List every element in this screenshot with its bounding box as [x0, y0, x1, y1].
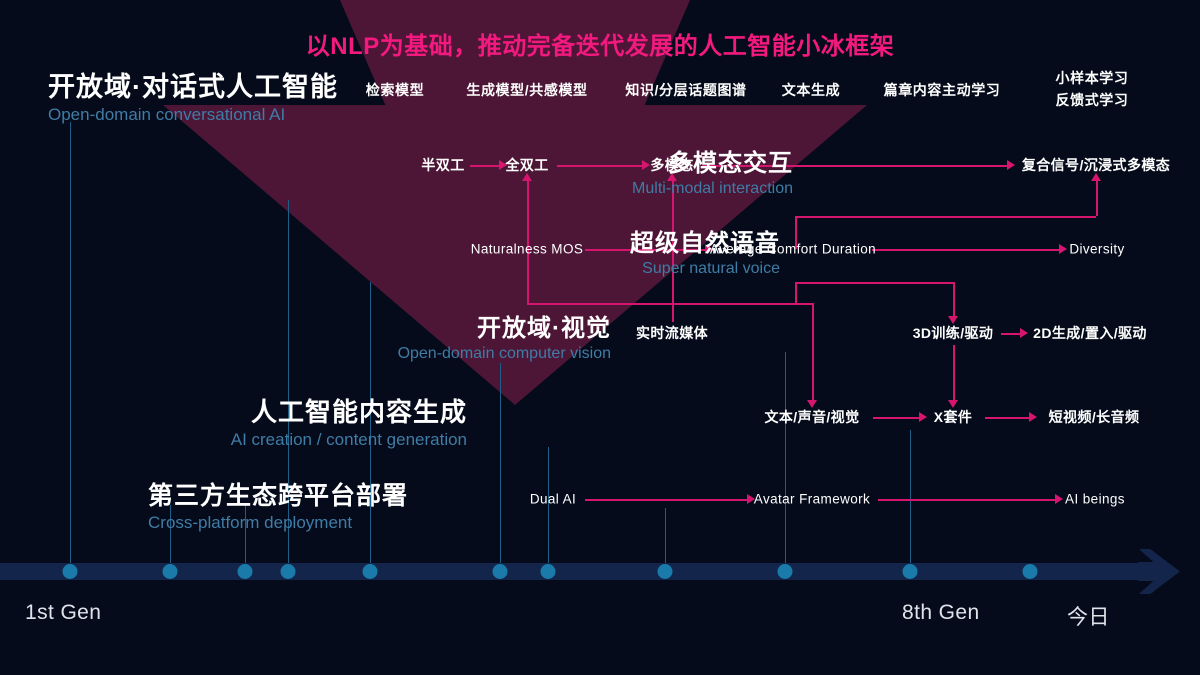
- row-heading-en-open-domain-conversational-ai: Open-domain conversational AI: [48, 104, 338, 126]
- row-heading-en-open-domain-computer-vision: Open-domain computer vision: [0, 344, 611, 365]
- flow-node-diversity: Diversity: [1069, 242, 1124, 257]
- row-heading-en-super-natural-voice: Super natural voice: [0, 259, 780, 280]
- timeline-dot-3[interactable]: [281, 564, 296, 579]
- connector-avatar-aibeings: [878, 499, 1056, 501]
- connector-dualai-avatar: [585, 499, 748, 501]
- arrow-right-icon: [1017, 326, 1031, 340]
- phase-label-3: 文本生成: [782, 80, 840, 102]
- flow-node-average-comfort-duration: Average Comfort Duration: [710, 242, 876, 257]
- row-heading-super-natural-voice: 超级自然语音Super natural voice: [0, 230, 780, 279]
- row-heading-cn-cross-platform-deployment: 第三方生态跨平台部署: [148, 482, 408, 511]
- flow-node-naturalness-mos: Naturalness MOS: [471, 242, 584, 257]
- connector-up-to-composite: [1096, 180, 1098, 216]
- row-heading-en-multi-modal-interaction: Multi-modal interaction: [0, 179, 793, 200]
- row-heading-open-domain-conversational-ai: 开放域·对话式人工智能Open-domain conversational AI: [48, 72, 338, 126]
- vline-realtime-streaming: [785, 352, 786, 566]
- timeline-arrow-icon: [1136, 548, 1184, 595]
- row-heading-cn-super-natural-voice: 超级自然语音: [0, 230, 780, 258]
- connector-xsuite-shortvideo: [985, 417, 1030, 419]
- timeline-dot-7[interactable]: [658, 564, 673, 579]
- row-heading-en-cross-platform-deployment: Cross-platform deployment: [148, 512, 408, 534]
- page-title: 以NLP为基础，推动完备迭代发展的人工智能小冰框架: [0, 26, 1200, 61]
- phase-label-5: 小样本学习: [1056, 68, 1129, 90]
- timeline-dot-9[interactable]: [903, 564, 918, 579]
- arrow-right-icon: [1056, 242, 1070, 256]
- flow-node-multimodal: 多模态: [650, 155, 693, 175]
- vline-x-suite: [910, 430, 911, 566]
- arrow-right-icon: [1026, 410, 1040, 424]
- timeline-dot-1[interactable]: [163, 564, 178, 579]
- flow-node-avatar-framework: Avatar Framework: [754, 492, 870, 507]
- flow-node-full-duplex: 全双工: [505, 155, 548, 175]
- arrow-right-icon: [1004, 158, 1018, 172]
- flow-node-short-video-audio: 短视频/长音频: [1049, 407, 1140, 427]
- row-heading-cross-platform-deployment: 第三方生态跨平台部署Cross-platform deployment: [148, 482, 408, 534]
- phase-label-4: 篇章内容主动学习: [884, 80, 1001, 102]
- timeline-dot-6[interactable]: [541, 564, 556, 579]
- row-heading-en-ai-creation-content-generation: AI creation / content generation: [0, 429, 467, 451]
- row-heading-cn-open-domain-conversational-ai: 开放域·对话式人工智能: [48, 72, 338, 103]
- connector-text-xsuite: [873, 417, 920, 419]
- flow-node-x-suite: X套件: [934, 407, 973, 427]
- connector-elbow-to-3d: [795, 282, 953, 284]
- flow-node-dual-ai: Dual AI: [530, 492, 576, 507]
- vline-open-domain-vision: [500, 363, 501, 566]
- connector-down-to-text: [812, 345, 814, 400]
- row-heading-open-domain-computer-vision: 开放域·视觉Open-domain computer vision: [0, 315, 611, 364]
- connector-795-down: [795, 282, 797, 303]
- flow-node-half-duplex: 半双工: [421, 155, 464, 175]
- phase-label-2: 知识/分层话题图谱: [625, 80, 746, 102]
- timeline-dot-0[interactable]: [63, 564, 78, 579]
- vline-dual-ai: [665, 508, 666, 566]
- connector-streaming-elbow: [812, 303, 814, 345]
- vline-ai-creation: [548, 447, 549, 566]
- connector-streaming-across: [672, 303, 812, 305]
- timeline-dot-10[interactable]: [1023, 564, 1038, 579]
- flow-node-realtime-streaming: 实时流媒体: [636, 323, 708, 343]
- row-heading-cn-ai-creation-content-generation: 人工智能内容生成: [0, 398, 467, 428]
- timeline-dot-2[interactable]: [238, 564, 253, 579]
- timeline-label-today: 今日: [1067, 601, 1110, 631]
- flow-node-text-voice-vision: 文本/声音/视觉: [765, 407, 860, 427]
- phase-label-1: 生成模型/共感模型: [466, 80, 587, 102]
- timeline-dot-4[interactable]: [363, 564, 378, 579]
- timeline-dot-5[interactable]: [493, 564, 508, 579]
- flow-node-ai-beings: AI beings: [1065, 492, 1125, 507]
- connector-comfort-diversity: [872, 249, 1060, 251]
- row-heading-cn-open-domain-computer-vision: 开放域·视觉: [0, 315, 611, 343]
- arrow-right-icon: [1052, 492, 1066, 506]
- timeline-dot-8[interactable]: [778, 564, 793, 579]
- row-heading-ai-creation-content-generation: 人工智能内容生成AI creation / content generation: [0, 398, 467, 451]
- flow-node-2d-generation: 2D生成/置入/驱动: [1033, 323, 1147, 343]
- timeline-label-eighth-gen: 8th Gen: [902, 601, 980, 625]
- arrow-right-icon: [916, 410, 930, 424]
- slide-canvas: 以NLP为基础，推动完备迭代发展的人工智能小冰框架 检索模型生成模型/共感模型知…: [0, 0, 1200, 675]
- phase-label-0: 检索模型: [366, 80, 424, 102]
- flow-node-composite-signal: 复合信号/沉浸式多模态: [1022, 155, 1170, 175]
- flow-node-3d-training-drive: 3D训练/驱动: [913, 323, 994, 343]
- timeline-label-first-gen: 1st Gen: [25, 601, 101, 625]
- connector-down-to-3d: [953, 282, 955, 316]
- connector-comfort-elbow-top: [795, 216, 1096, 218]
- phase-label-6: 反馈式学习: [1056, 90, 1129, 112]
- connector-3d-down-to-xsuite: [953, 345, 955, 400]
